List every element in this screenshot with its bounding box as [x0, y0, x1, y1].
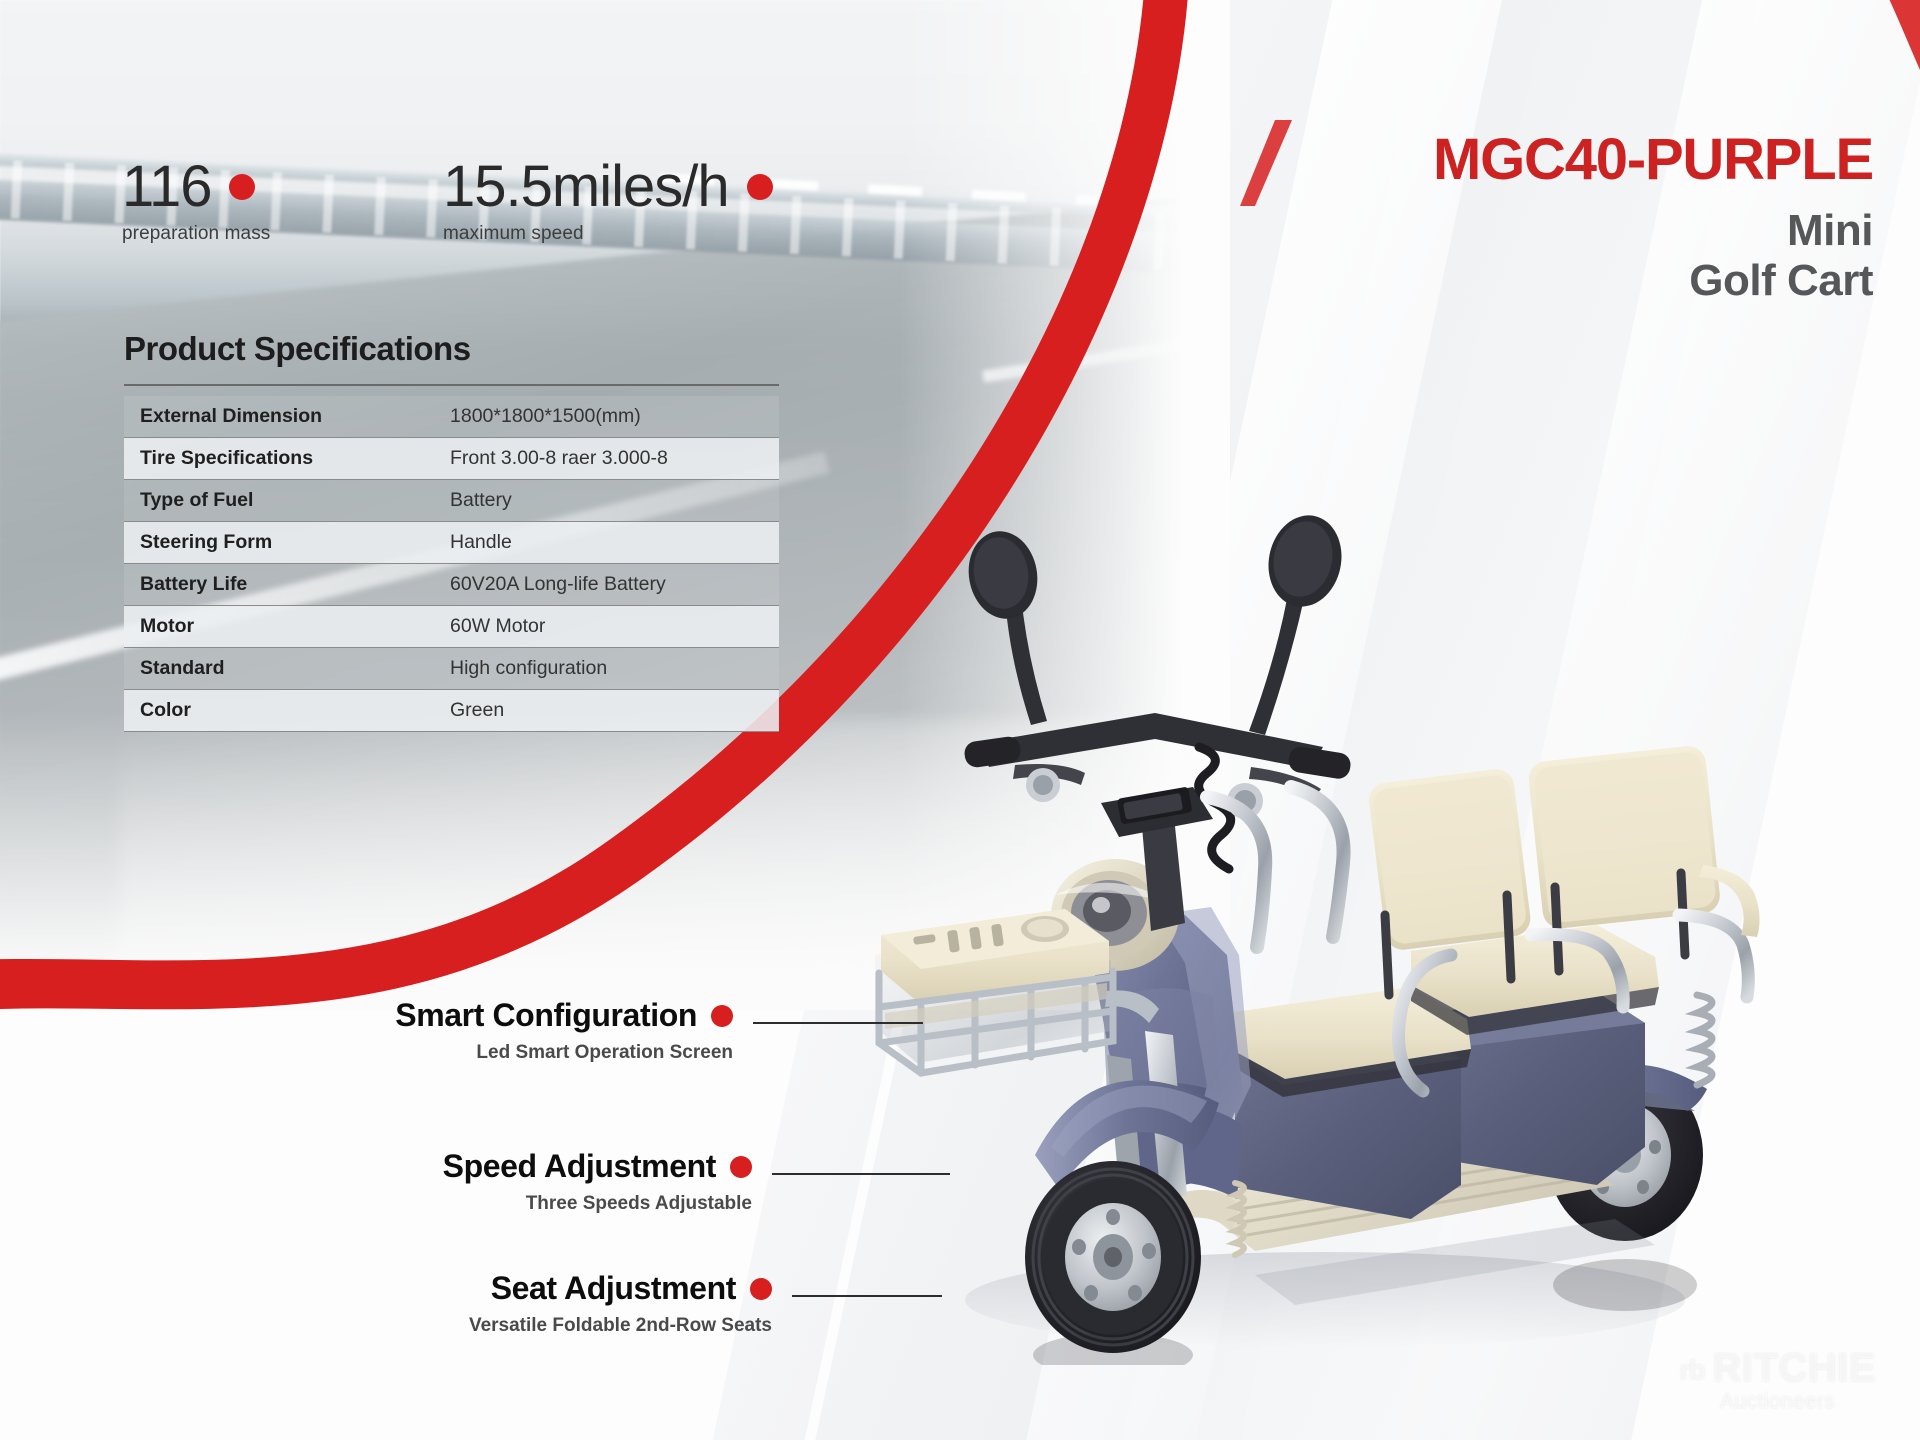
spec-value: Battery	[434, 480, 779, 522]
spec-key: Type of Fuel	[124, 480, 434, 522]
spec-value: 60V20A Long-life Battery	[434, 564, 779, 606]
leader-line	[792, 1295, 942, 1297]
leader-line	[753, 1022, 923, 1024]
poster-canvas: 116 preparation mass 15.5miles/h maximum…	[0, 0, 1920, 1440]
stat-value-preparation-mass: 116	[122, 158, 211, 216]
red-dot-icon	[711, 1005, 733, 1027]
feature-title: Seat Adjustment	[491, 1270, 736, 1307]
stat-maximum-speed: 15.5miles/h maximum speed	[443, 158, 773, 245]
product-specifications-panel: Product Specifications External Dimensio…	[124, 330, 786, 732]
table-row: Battery Life 60V20A Long-life Battery	[124, 564, 779, 606]
spec-key: External Dimension	[124, 396, 434, 438]
product-subtitle-line-2: Golf Cart	[1433, 256, 1873, 305]
spec-value: 60W Motor	[434, 606, 779, 648]
table-row: Motor 60W Motor	[124, 606, 779, 648]
spec-key: Color	[124, 690, 434, 732]
stat-preparation-mass: 116 preparation mass	[122, 158, 270, 245]
table-row: Tire Specifications Front 3.00-8 raer 3.…	[124, 438, 779, 480]
stat-caption-preparation-mass: preparation mass	[122, 223, 270, 245]
feature-title: Smart Configuration	[395, 997, 697, 1034]
feature-seat-adjustment: Seat Adjustment Versatile Foldable 2nd-R…	[0, 1270, 772, 1337]
spec-key: Standard	[124, 648, 434, 690]
stat-caption-maximum-speed: maximum speed	[443, 223, 773, 245]
feature-smart-configuration: Smart Configuration Led Smart Operation …	[0, 997, 733, 1064]
table-row: Color Green	[124, 690, 779, 732]
feature-title: Speed Adjustment	[443, 1148, 716, 1185]
spec-key: Battery Life	[124, 564, 434, 606]
spec-key: Motor	[124, 606, 434, 648]
red-dot-icon	[747, 174, 773, 200]
spec-value: Green	[434, 690, 779, 732]
spec-value: Handle	[434, 522, 779, 564]
feature-subtitle: Led Smart Operation Screen	[0, 1042, 733, 1064]
product-subtitle: Mini Golf Cart	[1433, 206, 1873, 305]
table-row: Steering Form Handle	[124, 522, 779, 564]
table-row: Type of Fuel Battery	[124, 480, 779, 522]
feature-speed-adjustment: Speed Adjustment Three Speeds Adjustable	[0, 1148, 752, 1215]
red-dot-icon	[229, 174, 255, 200]
specifications-table: External Dimension 1800*1800*1500(mm) Ti…	[124, 396, 779, 732]
spec-key: Steering Form	[124, 522, 434, 564]
feature-subtitle: Versatile Foldable 2nd-Row Seats	[0, 1315, 772, 1337]
spec-panel-heading: Product Specifications	[124, 330, 786, 368]
product-title-block: MGC40-PURPLE Mini Golf Cart	[1433, 130, 1873, 305]
spec-value: High configuration	[434, 648, 779, 690]
product-model-name: MGC40-PURPLE	[1433, 130, 1873, 190]
red-dot-icon	[750, 1278, 772, 1300]
spec-value: 1800*1800*1500(mm)	[434, 396, 779, 438]
spec-value: Front 3.00-8 raer 3.000-8	[434, 438, 779, 480]
table-row: Standard High configuration	[124, 648, 779, 690]
product-subtitle-line-1: Mini	[1433, 206, 1873, 255]
product-image	[855, 395, 1800, 1365]
red-dot-icon	[730, 1156, 752, 1178]
table-row: External Dimension 1800*1800*1500(mm)	[124, 396, 779, 438]
stat-value-maximum-speed: 15.5miles/h	[443, 158, 729, 216]
spec-panel-divider	[124, 384, 779, 386]
spec-key: Tire Specifications	[124, 438, 434, 480]
feature-subtitle: Three Speeds Adjustable	[0, 1193, 752, 1215]
leader-line	[772, 1173, 950, 1175]
